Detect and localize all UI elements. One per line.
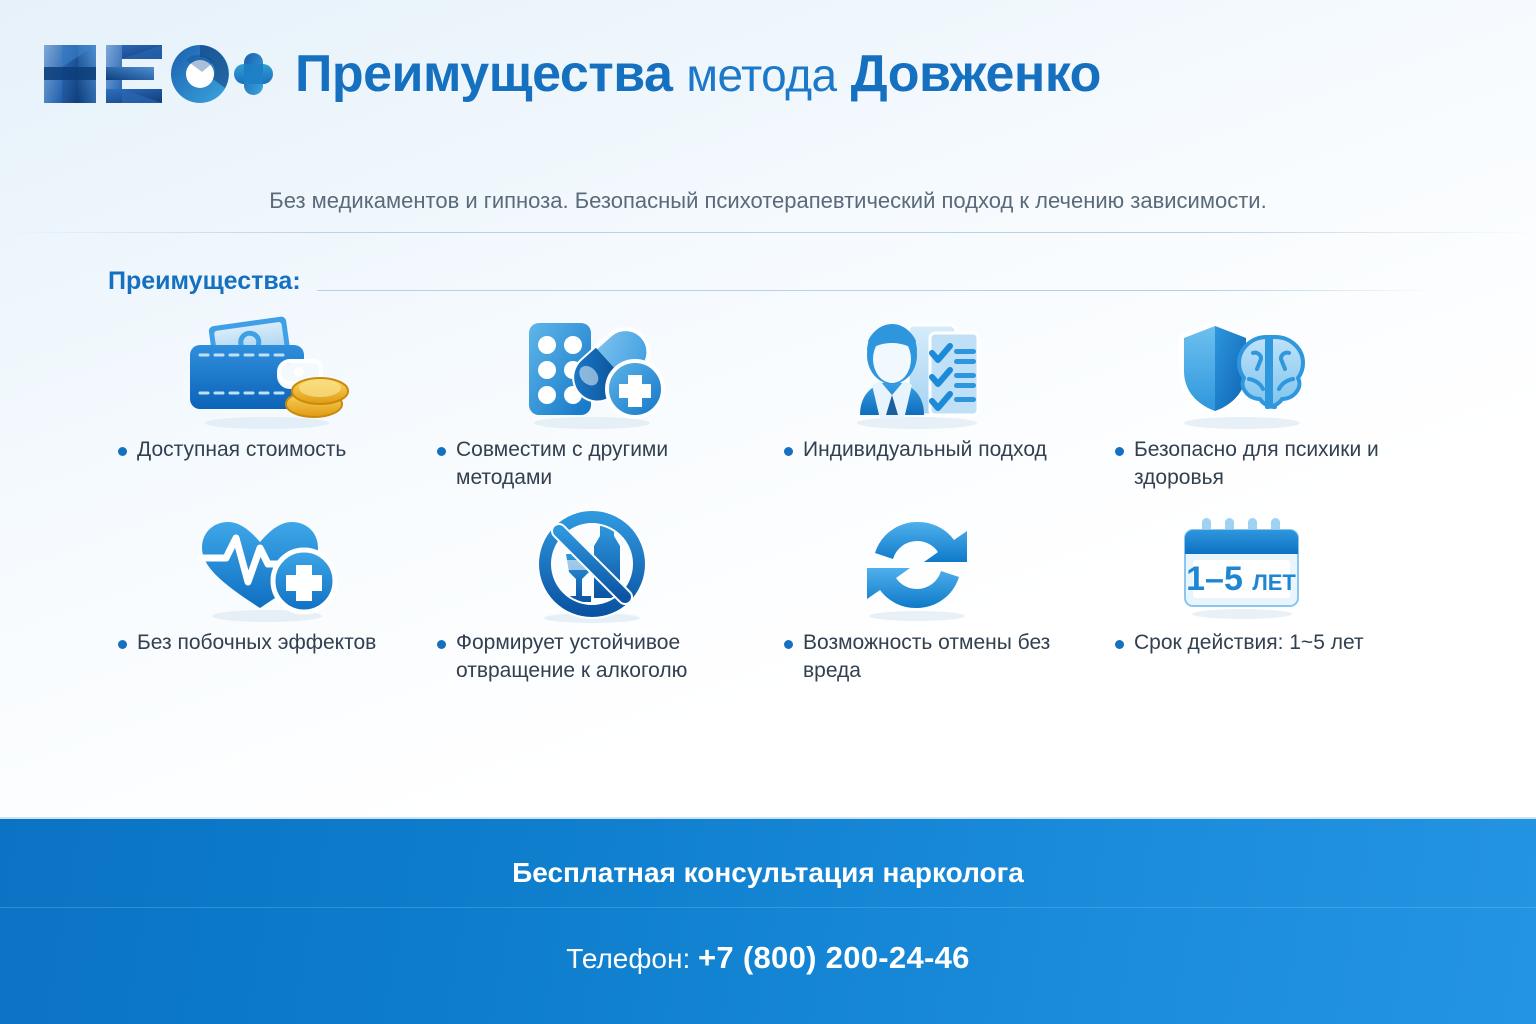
calendar-years-icon: 1–5 ЛЕТ	[1079, 507, 1404, 629]
bullet-icon	[437, 640, 446, 649]
benefit-item-affordable-cost: Доступная стоимость	[104, 306, 429, 493]
benefit-label: Безопасно для психики и здоровья	[1134, 436, 1396, 493]
benefit-label-row: Индивидуальный подход	[754, 436, 1079, 464]
subtitle-band: Без медикаментов и гипноза. Безопасный п…	[0, 172, 1536, 230]
no-alcohol-icon	[429, 507, 754, 629]
subtitle-divider	[0, 232, 1536, 233]
footer-phone-row: Телефон: +7 (800) 200-24-46	[566, 940, 969, 976]
benefit-label: Формирует устойчивое отвращение к алкого…	[456, 629, 746, 686]
benefits-section-header: Преимущества:	[108, 258, 1436, 298]
benefit-label-row: Без побочных эффектов	[104, 629, 429, 657]
doctor-checklist-icon	[754, 306, 1079, 436]
benefit-label: Доступная стоимость	[137, 436, 346, 464]
footer-divider	[0, 907, 1536, 908]
page-title-part2: метода	[686, 49, 836, 101]
benefit-label: Возможность отмены без вреда	[803, 629, 1071, 686]
section-title: Преимущества:	[108, 267, 301, 298]
benefit-label: Индивидуальный подход	[803, 436, 1047, 464]
bullet-icon	[784, 447, 793, 456]
page-title-part3: Довженко	[851, 45, 1101, 103]
benefit-label-row: Доступная стоимость	[104, 436, 429, 464]
benefit-item-reversible: Возможность отмены без вреда	[754, 507, 1079, 686]
bullet-icon	[784, 640, 793, 649]
pills-blister-capsule-icon	[429, 306, 754, 436]
benefit-label-row: Формирует устойчивое отвращение к алкого…	[429, 629, 754, 686]
refresh-arrows-icon	[754, 507, 1079, 629]
shield-brain-icon	[1079, 306, 1404, 436]
contact-footer: Бесплатная консультация нарколога Телефо…	[0, 817, 1536, 1024]
benefit-item-individual-approach: Индивидуальный подход	[754, 306, 1079, 493]
footer-title: Бесплатная консультация нарколога	[512, 857, 1024, 889]
infographic-page: Преимущества метода Довженко Без медикам…	[0, 0, 1536, 1024]
benefit-label: Срок действия: 1~5 лет	[1134, 629, 1364, 657]
benefit-item-safe-for-mind: Безопасно для психики и здоровья	[1079, 306, 1404, 493]
phone-number[interactable]: +7 (800) 200-24-46	[698, 940, 970, 975]
benefit-item-compatible-methods: Совместим с другими методами	[429, 306, 754, 493]
page-title: Преимущества метода Довженко	[295, 48, 1101, 100]
benefit-label: Совместим с другими методами	[456, 436, 746, 493]
benefit-label-row: Возможность отмены без вреда	[754, 629, 1079, 686]
page-header: Преимущества метода Довженко	[0, 0, 1536, 148]
wallet-coins-icon	[104, 306, 429, 436]
benefit-label-row: Безопасно для психики и здоровья	[1079, 436, 1404, 493]
subtitle-text: Без медикаментов и гипноза. Безопасный п…	[269, 188, 1266, 214]
benefits-grid: Доступная стоимость	[104, 306, 1404, 685]
bullet-icon	[1115, 640, 1124, 649]
bullet-icon	[118, 640, 127, 649]
phone-label: Телефон:	[566, 943, 690, 974]
benefit-label-row: Совместим с другими методами	[429, 436, 754, 493]
benefit-label-row: Срок действия: 1~5 лет	[1079, 629, 1404, 657]
page-title-part1: Преимущества	[295, 45, 672, 103]
benefit-item-duration: 1–5 ЛЕТ Срок действия: 1~5 лет	[1079, 507, 1404, 686]
benefit-label: Без побочных эффектов	[137, 629, 376, 657]
bullet-icon	[118, 447, 127, 456]
benefit-item-alcohol-aversion: Формирует устойчивое отвращение к алкого…	[429, 507, 754, 686]
bullet-icon	[437, 447, 446, 456]
neo-plus-logo	[38, 37, 273, 111]
bullet-icon	[1115, 447, 1124, 456]
heart-pulse-plus-icon	[104, 507, 429, 629]
section-divider	[317, 290, 1436, 291]
benefit-item-no-side-effects: Без побочных эффектов	[104, 507, 429, 686]
